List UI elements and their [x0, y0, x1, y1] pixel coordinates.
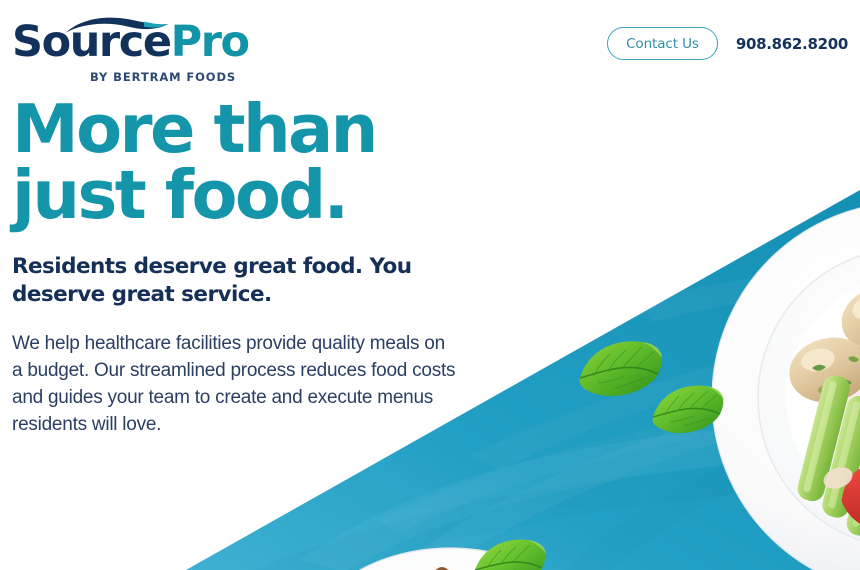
hero-copy: More than just food. Residents deserve g…	[12, 96, 482, 439]
mint-leaf-icon	[650, 383, 728, 437]
header-actions: Contact Us 908.862.8200	[607, 10, 860, 60]
hero-subheadline: Residents deserve great food. You deserv…	[12, 253, 442, 310]
headline-line-1: More than	[12, 96, 482, 162]
mint-leaf-icon	[472, 538, 550, 570]
logo-wordmark: SourcePro	[12, 21, 249, 64]
hero-section: SourcePro BY BERTRAM FOODS Contact Us 90…	[0, 0, 860, 570]
hero-headline: More than just food.	[12, 96, 482, 229]
second-plate-image	[300, 540, 600, 570]
plate-of-food-image	[712, 202, 860, 570]
headline-line-2: just food.	[12, 162, 482, 228]
logo-text-pro: Pro	[171, 17, 249, 67]
logo-tagline: BY BERTRAM FOODS	[90, 70, 236, 84]
brand-logo[interactable]: SourcePro BY BERTRAM FOODS	[12, 10, 230, 82]
logo-text-source: Source	[12, 17, 171, 67]
hero-body-text: We help healthcare facilities provide qu…	[12, 331, 458, 439]
phone-number-link[interactable]: 908.862.8200	[736, 35, 848, 53]
mint-leaf-icon	[576, 338, 668, 400]
contact-us-button[interactable]: Contact Us	[607, 27, 718, 60]
site-header: SourcePro BY BERTRAM FOODS Contact Us 90…	[0, 0, 860, 88]
